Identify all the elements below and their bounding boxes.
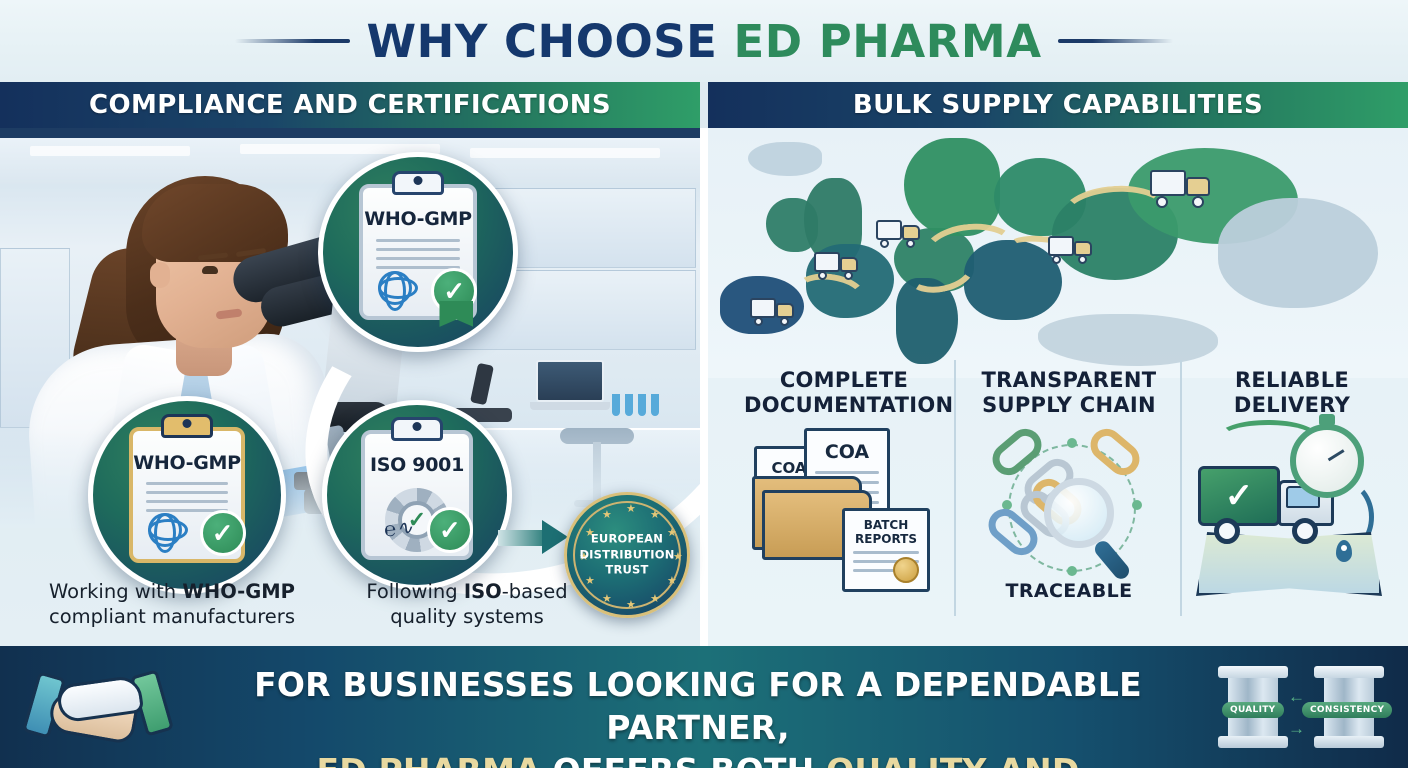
landmass-east [1218, 198, 1378, 308]
star-icon: ★ [626, 504, 636, 515]
star-icon: ★ [626, 600, 636, 611]
caption-line2: quality systems [390, 605, 544, 628]
badge-label: WHO-GMP [133, 452, 242, 474]
doc-label: BATCH REPORTS [845, 519, 927, 547]
heading-line-2: DOCUMENTATION [744, 393, 953, 417]
map-pin-icon [1336, 540, 1352, 562]
magnifier-icon [1044, 478, 1114, 548]
seal-line-1: EUROPEAN [567, 532, 687, 548]
landmass-turkey [1038, 314, 1218, 366]
badge-label: ISO 9001 [365, 454, 469, 476]
ribbon-icon [439, 301, 473, 327]
column-heading-delivery: RELIABLE DELIVERY [1192, 368, 1392, 418]
footer-line-1: FOR BUSINESSES LOOKING FOR A DEPENDABLE … [254, 665, 1142, 747]
batch-reports-document: BATCH REPORTS [842, 508, 930, 592]
pill-label-quality: QUALITY [1222, 702, 1284, 718]
truck-wheel [1292, 518, 1318, 544]
landmass-iceland [748, 142, 822, 176]
page-title-part1: WHY CHOOSE [366, 15, 733, 68]
pillars-icon: ← → QUALITY CONSISTENCY [1224, 658, 1392, 756]
flow-arrow-icon [498, 520, 570, 554]
truck-cargo-box: ✓ [1198, 466, 1280, 526]
clipboard-icon: WHO-GMP ✓ [129, 427, 246, 562]
seal-text: EUROPEAN DISTRIBUTION TRUST [567, 532, 687, 579]
delivery-truck-icon [1048, 234, 1094, 264]
caption-iso: Following ISO-based quality systems [322, 580, 612, 630]
clipboard-icon: ISO 9001 ✓ ℮∿ ✓ [361, 430, 473, 560]
page-title: WHY CHOOSE ED PHARMA [366, 15, 1041, 68]
clipboard-icon: WHO-GMP ✓ [359, 184, 477, 321]
arrow-left-icon: ← [1288, 688, 1305, 705]
title-rule-right [1058, 39, 1173, 43]
caption-who-gmp: Working with WHO-GMP compliant manufactu… [22, 580, 322, 630]
check-seal-icon: ✓ [431, 268, 477, 314]
handshake-icon [28, 662, 168, 754]
badge-label: WHO-GMP [363, 208, 473, 230]
ear [150, 262, 170, 288]
documentation-icon: COA COA BATCH REPORTS [752, 424, 942, 594]
globe-icon [148, 513, 182, 547]
check-circle-icon: ✓ [427, 507, 473, 553]
stopwatch-icon [1290, 424, 1364, 498]
seal-line-2: DISTRIBUTION [567, 547, 687, 563]
caption-bold: WHO-GMP [182, 580, 295, 603]
seal-line-3: TRUST [567, 563, 687, 579]
signature-icon: ℮∿ [383, 515, 414, 543]
page-title-bar: WHY CHOOSE ED PHARMA [0, 0, 1408, 82]
chain-node [1132, 500, 1142, 510]
delivery-truck-icon [750, 296, 796, 326]
reliable-delivery-icon: ✓ [1196, 414, 1392, 604]
star-icon: ★ [602, 510, 612, 521]
truck-wheel [1214, 518, 1240, 544]
caption-post: -based [502, 580, 568, 603]
traceable-label: TRACEABLE [964, 580, 1174, 602]
ceiling-light [470, 148, 660, 158]
arrow-right-icon: → [1288, 720, 1305, 737]
chain-node [1067, 566, 1077, 576]
globe-icon [378, 271, 412, 305]
footer-brand: ED PHARMA [317, 751, 541, 768]
right-panel-heading: BULK SUPPLY CAPABILITIES [708, 82, 1408, 128]
footer-banner: FOR BUSINESSES LOOKING FOR A DEPENDABLE … [0, 646, 1408, 768]
gold-seal-icon [893, 557, 919, 583]
caption-bold: ISO [464, 580, 502, 603]
delivery-truck-icon [876, 218, 922, 248]
supply-chain-icon [972, 424, 1162, 584]
star-icon: ★ [650, 594, 660, 605]
page-title-part2: ED PHARMA [734, 15, 1042, 68]
panel-divider [700, 128, 708, 646]
badge-iso-9001: ISO 9001 ✓ ℮∿ ✓ [322, 400, 512, 590]
heading-line-2: SUPPLY CHAIN [982, 393, 1156, 417]
pill-label-consistency: CONSISTENCY [1302, 702, 1392, 718]
left-panel-heading: COMPLIANCE AND CERTIFICATIONS [0, 82, 700, 128]
doc-label: COA [807, 441, 887, 463]
badge-who-gmp: WHO-GMP ✓ [88, 396, 286, 594]
star-icon: ★ [650, 510, 660, 521]
title-rule-left [235, 39, 350, 43]
footer-text: FOR BUSINESSES LOOKING FOR A DEPENDABLE … [176, 664, 1220, 768]
heading-line-1: COMPLETE [780, 368, 908, 392]
footer-line-2-mid: OFFERS BOTH [541, 751, 826, 768]
column-heading-supply-chain: TRANSPARENT SUPPLY CHAIN [964, 368, 1174, 418]
chain-node [1067, 438, 1077, 448]
delivery-truck-icon [1150, 168, 1212, 208]
delivery-truck-icon [814, 250, 860, 280]
caption-pre: Following [366, 580, 464, 603]
heading-line-1: RELIABLE [1235, 368, 1349, 392]
heading-line-1: TRANSPARENT [982, 368, 1157, 392]
caption-pre: Working with [49, 580, 182, 603]
column-separator [1180, 360, 1182, 616]
eye [202, 266, 218, 274]
column-separator [954, 360, 956, 616]
check-circle-icon: ✓ [200, 510, 246, 556]
infographic-page: WHY CHOOSE ED PHARMA COMPLIANCE AND CERT… [0, 0, 1408, 768]
europe-distribution-map [708, 128, 1408, 378]
badge-who-gmp-top: WHO-GMP ✓ [318, 152, 518, 352]
check-icon: ✓ [1225, 479, 1254, 513]
caption-line2: compliant manufacturers [49, 605, 295, 628]
column-heading-documentation: COMPLETE DOCUMENTATION [744, 368, 944, 418]
